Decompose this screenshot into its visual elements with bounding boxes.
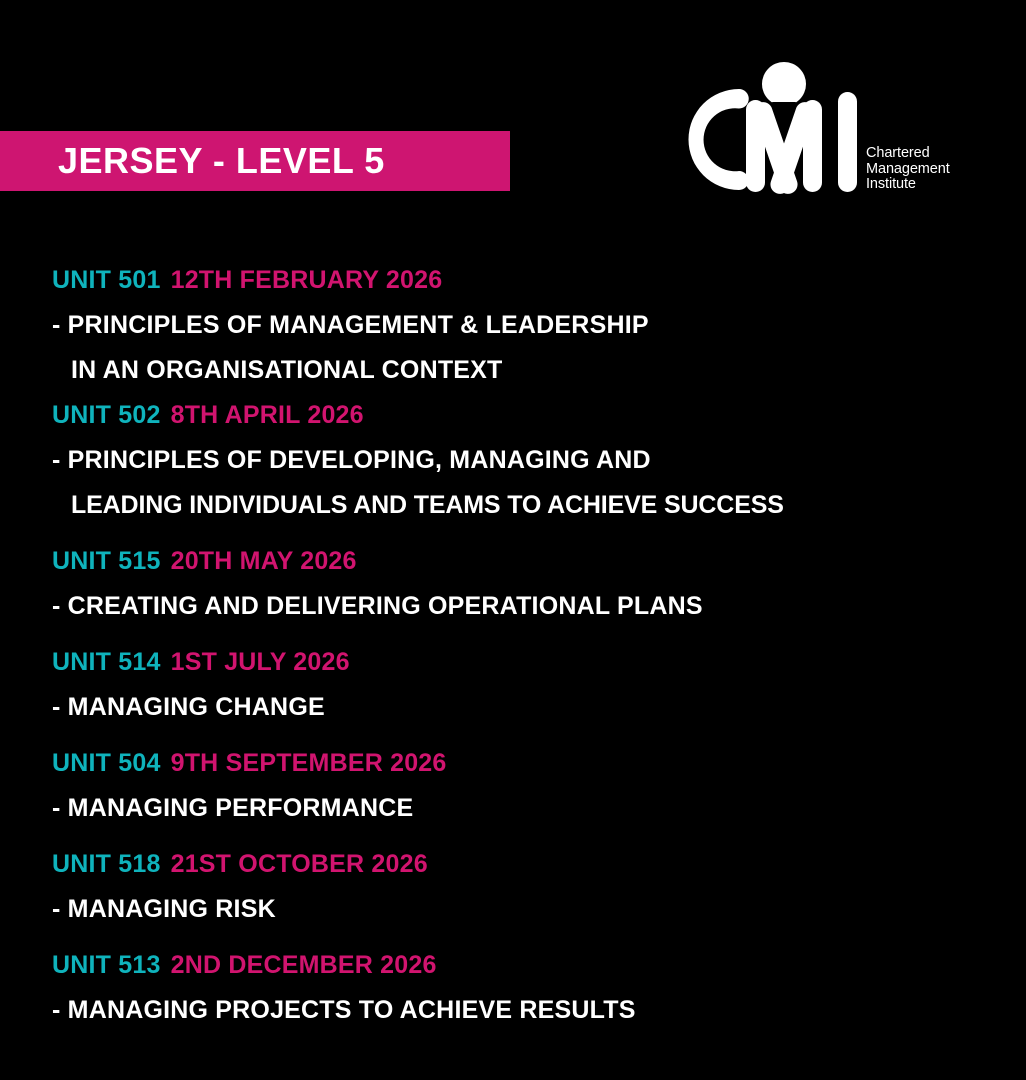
unit-title-line: - CREATING AND DELIVERING OPERATIONAL PL…	[52, 584, 1012, 629]
cmi-wordmark-text: Chartered Management Institute	[866, 146, 981, 193]
title-banner: JERSEY - LEVEL 5	[0, 131, 510, 191]
unit-date: 9TH SEPTEMBER 2026	[171, 749, 447, 777]
unit-date: 21ST OCTOBER 2026	[171, 850, 428, 878]
cmi-logo-mark	[686, 62, 862, 194]
unit-group: UNIT 50112TH FEBRUARY 2026 - PRINCIPLES …	[52, 258, 1012, 393]
poster-canvas: Chartered Management Institute JERSEY - …	[0, 0, 1026, 1080]
unit-title-line: - MANAGING PERFORMANCE	[52, 786, 1012, 831]
unit-date: 12TH FEBRUARY 2026	[171, 266, 443, 294]
page-title: JERSEY - LEVEL 5	[58, 131, 385, 191]
unit-schedule-list: UNIT 50112TH FEBRUARY 2026 - PRINCIPLES …	[52, 258, 1012, 1044]
unit-title-line: - PRINCIPLES OF MANAGEMENT & LEADERSHIP	[52, 303, 1012, 348]
unit-group: UNIT 51821ST OCTOBER 2026 - MANAGING RIS…	[52, 842, 1012, 932]
cmi-logo: Chartered Management Institute	[686, 62, 986, 197]
unit-header: UNIT 5049TH SEPTEMBER 2026	[52, 741, 1012, 786]
unit-header: UNIT 5141ST JULY 2026	[52, 640, 1012, 685]
unit-code: UNIT 518	[52, 850, 161, 878]
unit-code: UNIT 513	[52, 951, 161, 979]
unit-header: UNIT 50112TH FEBRUARY 2026	[52, 258, 1012, 303]
unit-title-line: IN AN ORGANISATIONAL CONTEXT	[52, 348, 1012, 393]
unit-group: UNIT 5141ST JULY 2026 - MANAGING CHANGE	[52, 640, 1012, 730]
unit-group: UNIT 5049TH SEPTEMBER 2026 - MANAGING PE…	[52, 741, 1012, 831]
unit-code: UNIT 515	[52, 547, 161, 575]
unit-date: 2ND DECEMBER 2026	[171, 951, 437, 979]
unit-code: UNIT 504	[52, 749, 161, 777]
unit-group: UNIT 5132ND DECEMBER 2026 - MANAGING PRO…	[52, 943, 1012, 1033]
unit-header: UNIT 51520TH MAY 2026	[52, 539, 1012, 584]
unit-title-line: - MANAGING RISK	[52, 887, 1012, 932]
unit-code: UNIT 501	[52, 266, 161, 294]
unit-date: 8TH APRIL 2026	[171, 401, 364, 429]
unit-date: 1ST JULY 2026	[171, 648, 350, 676]
unit-title-line: - MANAGING CHANGE	[52, 685, 1012, 730]
unit-date: 20TH MAY 2026	[171, 547, 357, 575]
unit-code: UNIT 502	[52, 401, 161, 429]
unit-header: UNIT 51821ST OCTOBER 2026	[52, 842, 1012, 887]
unit-group: UNIT 51520TH MAY 2026 - CREATING AND DEL…	[52, 539, 1012, 629]
unit-title-line: - PRINCIPLES OF DEVELOPING, MANAGING AND	[52, 438, 1012, 483]
unit-header: UNIT 5028TH APRIL 2026	[52, 393, 1012, 438]
unit-code: UNIT 514	[52, 648, 161, 676]
unit-header: UNIT 5132ND DECEMBER 2026	[52, 943, 1012, 988]
unit-title-line: LEADING INDIVIDUALS AND TEAMS TO ACHIEVE…	[52, 483, 1012, 528]
unit-group: UNIT 5028TH APRIL 2026 - PRINCIPLES OF D…	[52, 393, 1012, 528]
unit-title-line: - MANAGING PROJECTS TO ACHIEVE RESULTS	[52, 988, 1012, 1033]
